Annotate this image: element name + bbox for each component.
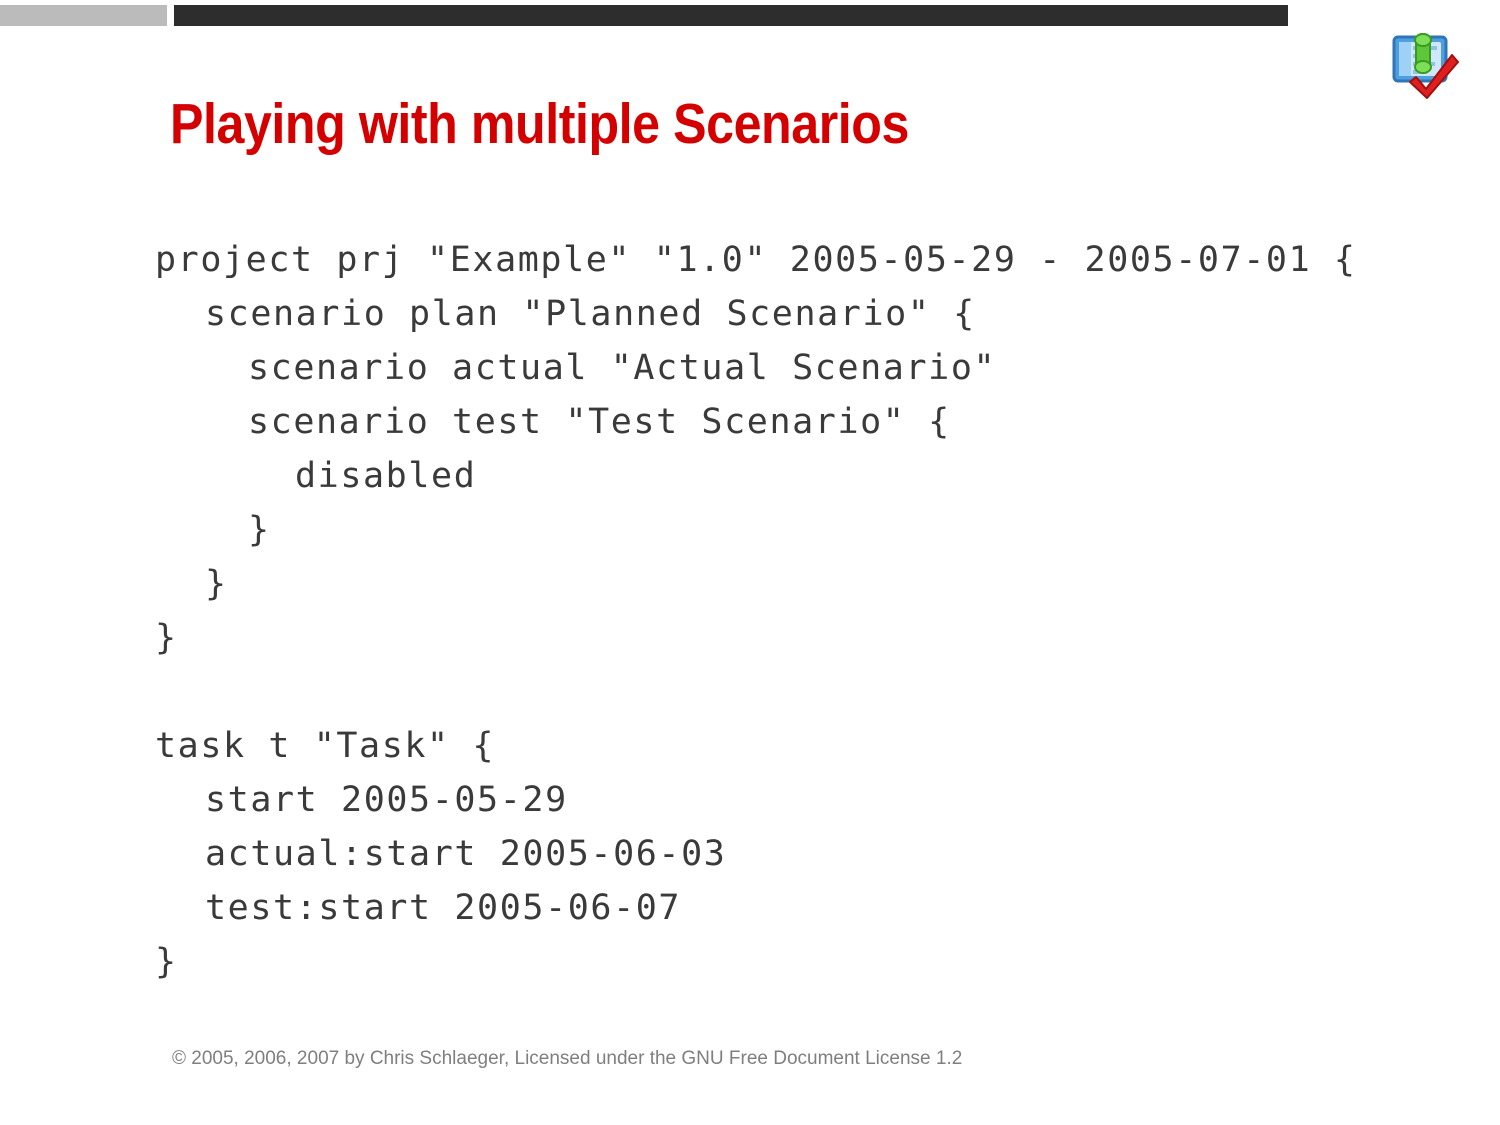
top-bar-left-segment [0, 5, 167, 26]
code-line: } [155, 611, 1435, 665]
code-line: actual:start 2005-06-03 [155, 827, 1435, 881]
top-decorative-bar [0, 0, 1500, 40]
code-block: project prj "Example" "1.0" 2005-05-29 -… [155, 233, 1435, 989]
code-line-blank [155, 665, 1435, 719]
code-line: project prj "Example" "1.0" 2005-05-29 -… [155, 233, 1435, 287]
code-line: scenario test "Test Scenario" { [155, 395, 1435, 449]
code-line: task t "Task" { [155, 719, 1435, 773]
code-line: scenario plan "Planned Scenario" { [155, 287, 1435, 341]
code-line: } [155, 557, 1435, 611]
code-line: disabled [155, 449, 1435, 503]
code-line: scenario actual "Actual Scenario" [155, 341, 1435, 395]
page-title: Playing with multiple Scenarios [170, 92, 1156, 156]
taskjuggler-logo-icon [1388, 33, 1462, 99]
code-line: start 2005-05-29 [155, 773, 1435, 827]
top-bar-right-segment [174, 5, 1288, 26]
code-line: } [155, 503, 1435, 557]
code-line: test:start 2005-06-07 [155, 881, 1435, 935]
copyright-footer: © 2005, 2006, 2007 by Chris Schlaeger, L… [172, 1047, 962, 1071]
code-line: } [155, 935, 1435, 989]
